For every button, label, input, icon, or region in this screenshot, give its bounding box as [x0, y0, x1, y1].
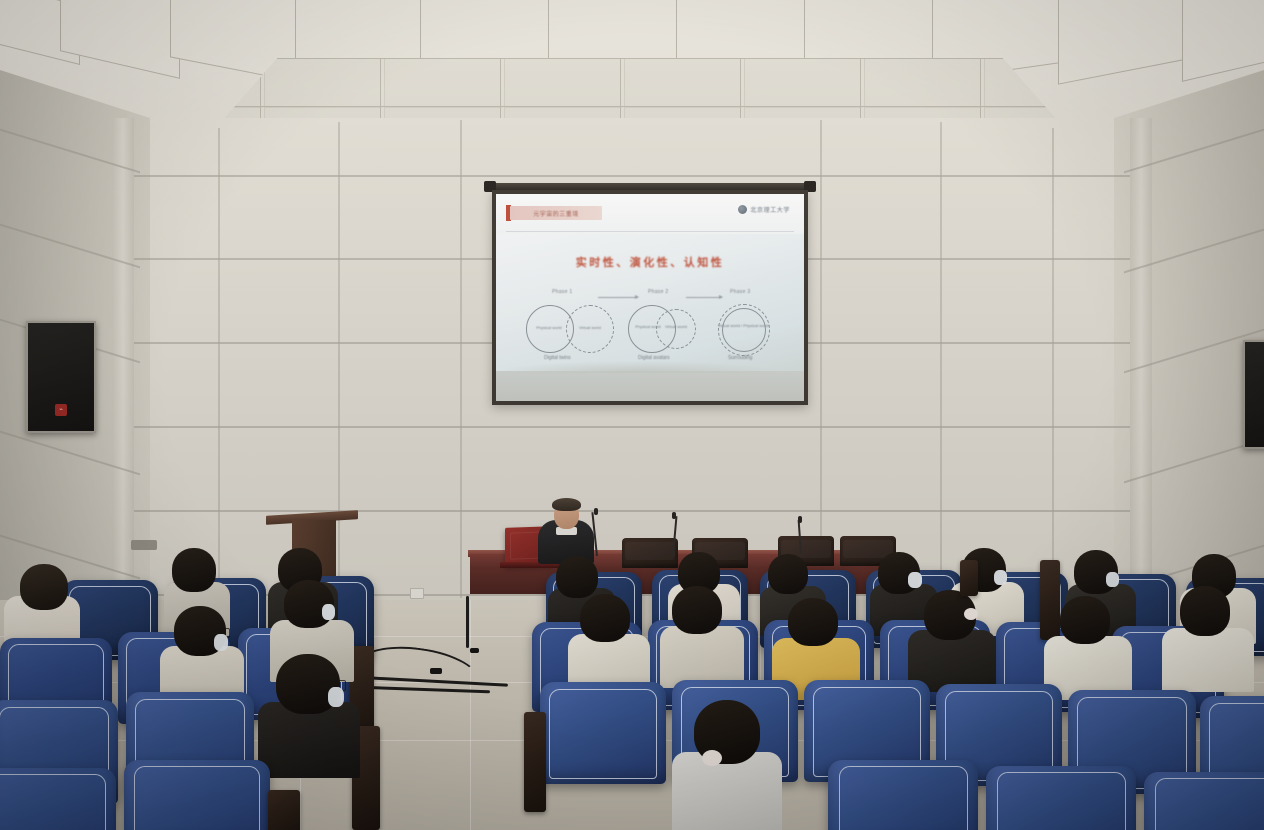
slide-floor-band: [496, 371, 804, 401]
cable-connector: [470, 648, 479, 653]
auditorium-seat[interactable]: [0, 768, 116, 830]
screen-mount-bar: [484, 183, 816, 190]
microphone-head-icon: [798, 516, 802, 523]
auditorium-seat[interactable]: [540, 682, 666, 784]
face-mask: [908, 572, 922, 588]
microphone-head-icon: [594, 508, 598, 515]
auditorium-seat[interactable]: [828, 760, 978, 830]
phase3-inner-circle: [722, 308, 766, 352]
auditorium-seat[interactable]: [124, 760, 270, 830]
phase2-virtual-label: Virtual world: [660, 324, 692, 329]
phase2-virtual-circle: [656, 309, 696, 349]
phase-label: Phase 2: [648, 289, 668, 295]
auditorium-seat[interactable]: [1144, 772, 1264, 830]
person-head: [556, 556, 598, 598]
face-mask: [328, 687, 344, 707]
slide-diagram: Phase 1 Phase 2 Phase 3 Physical world V…: [514, 289, 786, 364]
phase3-merged-label: Virtual world / Physical world: [718, 323, 768, 328]
slide-title: 实时性、演化性、认知性: [496, 254, 804, 270]
person-head: [768, 554, 808, 594]
phase2-caption: Digital avatars: [638, 355, 670, 361]
person-head: [20, 564, 68, 610]
person-head: [788, 598, 838, 646]
phase-label: Phase 3: [730, 289, 750, 295]
hair-tie: [964, 608, 978, 620]
wall-speaker-left: ⌁: [26, 321, 96, 433]
phase1-caption: Digital twins: [544, 355, 571, 361]
evolution-arrow: [598, 297, 638, 298]
university-logo: 北京理工大学: [738, 205, 790, 214]
cable-connector: [430, 668, 442, 674]
face-mask: [322, 604, 335, 620]
speaker-brand-badge: ⌁: [55, 404, 67, 416]
podium-microphone: [131, 540, 157, 550]
face-mask: [1106, 572, 1119, 587]
presenter: [538, 500, 594, 564]
phase1-virtual-label: Virtual world: [566, 325, 614, 330]
panel-chair: [622, 538, 678, 568]
hair-tie: [702, 750, 722, 766]
person-head: [172, 548, 216, 592]
person-head: [580, 594, 630, 642]
seat-armrest: [268, 790, 300, 830]
face-mask: [994, 570, 1007, 585]
face-mask: [214, 634, 228, 651]
evolution-arrow: [686, 297, 722, 298]
university-name: 北京理工大学: [750, 205, 790, 214]
wall-outlet: [410, 588, 424, 599]
slide-ribbon-text: 元宇宙的三重境: [533, 209, 579, 218]
university-emblem-icon: [738, 205, 747, 214]
wall-speaker-right: [1243, 340, 1264, 449]
person-head: [1060, 596, 1110, 644]
microphone-head-icon: [672, 512, 676, 519]
phase-label: Phase 1: [552, 289, 572, 295]
person-head: [672, 586, 722, 634]
person-head: [1180, 586, 1230, 636]
presenter-hair: [552, 498, 581, 511]
floor-cable: [466, 596, 469, 648]
person-shoulders: [1162, 628, 1254, 692]
seat-armrest: [960, 560, 978, 596]
phase3-caption: Surrouding: [728, 355, 752, 361]
slide-content: 元宇宙的三重境 北京理工大学 实时性、演化性、认知性 Phase 1 Phase…: [496, 194, 804, 401]
person-shoulders: [660, 626, 744, 688]
seat-armrest: [1040, 560, 1060, 640]
slide-ribbon: 元宇宙的三重境: [510, 206, 602, 220]
slide-header: 元宇宙的三重境 北京理工大学: [496, 194, 804, 234]
seat-armrest: [524, 712, 546, 812]
projection-screen: 元宇宙的三重境 北京理工大学 实时性、演化性、认知性 Phase 1 Phase…: [492, 190, 808, 405]
auditorium-seat[interactable]: [986, 766, 1136, 830]
lecture-hall-screenshot: ⌁ 元宇宙的三重境 北京理工大学 实时性、演化性、认知性: [0, 0, 1264, 830]
